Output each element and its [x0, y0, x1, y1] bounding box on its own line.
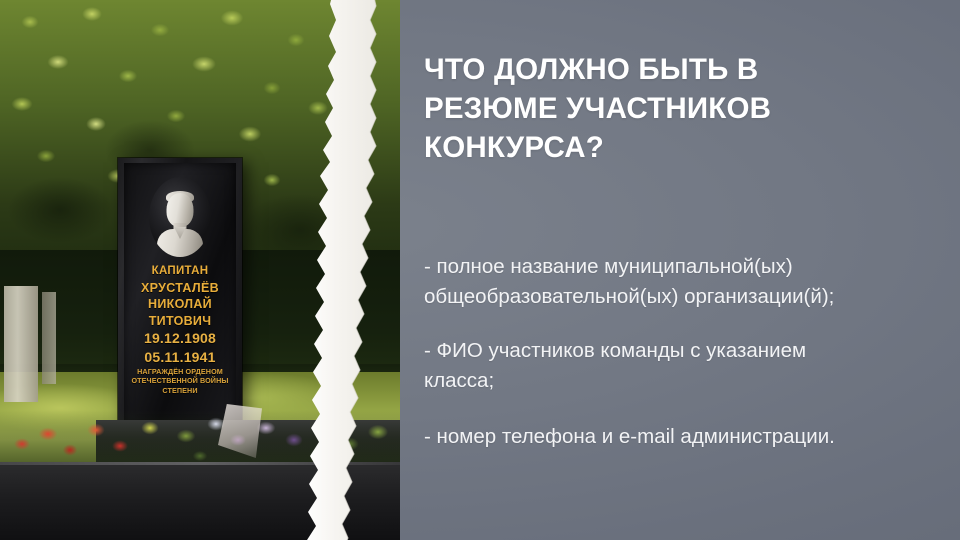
monument-face: КАПИТАН ХРУСТАЛЁВ НИКОЛАЙ ТИТОВИЧ 19.12.… [124, 163, 236, 426]
inscription-patronymic: ТИТОВИЧ [124, 313, 236, 330]
bas-relief-portrait [157, 191, 203, 257]
inscription-surname: ХРУСТАЛЁВ [124, 280, 236, 297]
award-line-3: СТЕПЕНИ [124, 386, 236, 395]
award-line-1: НАГРАЖДЁН ОРДЕНОМ [124, 367, 236, 376]
memorial-photo: КАПИТАН ХРУСТАЛЁВ НИКОЛАЙ ТИТОВИЧ 19.12.… [0, 0, 400, 540]
portrait-oval [149, 177, 211, 257]
monument-base [0, 462, 400, 540]
granite-monument: КАПИТАН ХРУСТАЛЁВ НИКОЛАЙ ТИТОВИЧ 19.12.… [118, 158, 242, 426]
inscription-award: НАГРАЖДЁН ОРДЕНОМ ОТЕЧЕСТВЕННОЙ ВОЙНЫ СТ… [124, 367, 236, 395]
award-line-2: ОТЕЧЕСТВЕННОЙ ВОЙНЫ [124, 376, 236, 385]
monument-base-edge [0, 462, 400, 465]
inscription-first-name: НИКОЛАЙ [124, 296, 236, 313]
inscription-rank: КАПИТАН [124, 263, 236, 280]
inscription-birth-date: 19.12.1908 [124, 329, 236, 348]
list-item: - полное название муниципальной(ых) обще… [424, 252, 876, 312]
list-item: - номер телефона и e-mail администрации. [424, 422, 876, 452]
inscription-death-date: 05.11.1941 [124, 348, 236, 367]
stone-post-secondary [42, 292, 56, 384]
page-title: ЧТО ДОЛЖНО БЫТЬ В РЕЗЮМЕ УЧАСТНИКОВ КОНК… [424, 50, 854, 167]
photo-canvas: КАПИТАН ХРУСТАЛЁВ НИКОЛАЙ ТИТОВИЧ 19.12.… [0, 0, 400, 540]
stone-post [4, 286, 38, 402]
monument-inscription: КАПИТАН ХРУСТАЛЁВ НИКОЛАЙ ТИТОВИЧ 19.12.… [124, 263, 236, 395]
list-item: - ФИО участников команды с указанием кла… [424, 336, 876, 396]
presentation-slide: КАПИТАН ХРУСТАЛЁВ НИКОЛАЙ ТИТОВИЧ 19.12.… [0, 0, 960, 540]
portrait-head [167, 193, 194, 227]
content-list: - полное название муниципальной(ых) обще… [424, 252, 876, 452]
